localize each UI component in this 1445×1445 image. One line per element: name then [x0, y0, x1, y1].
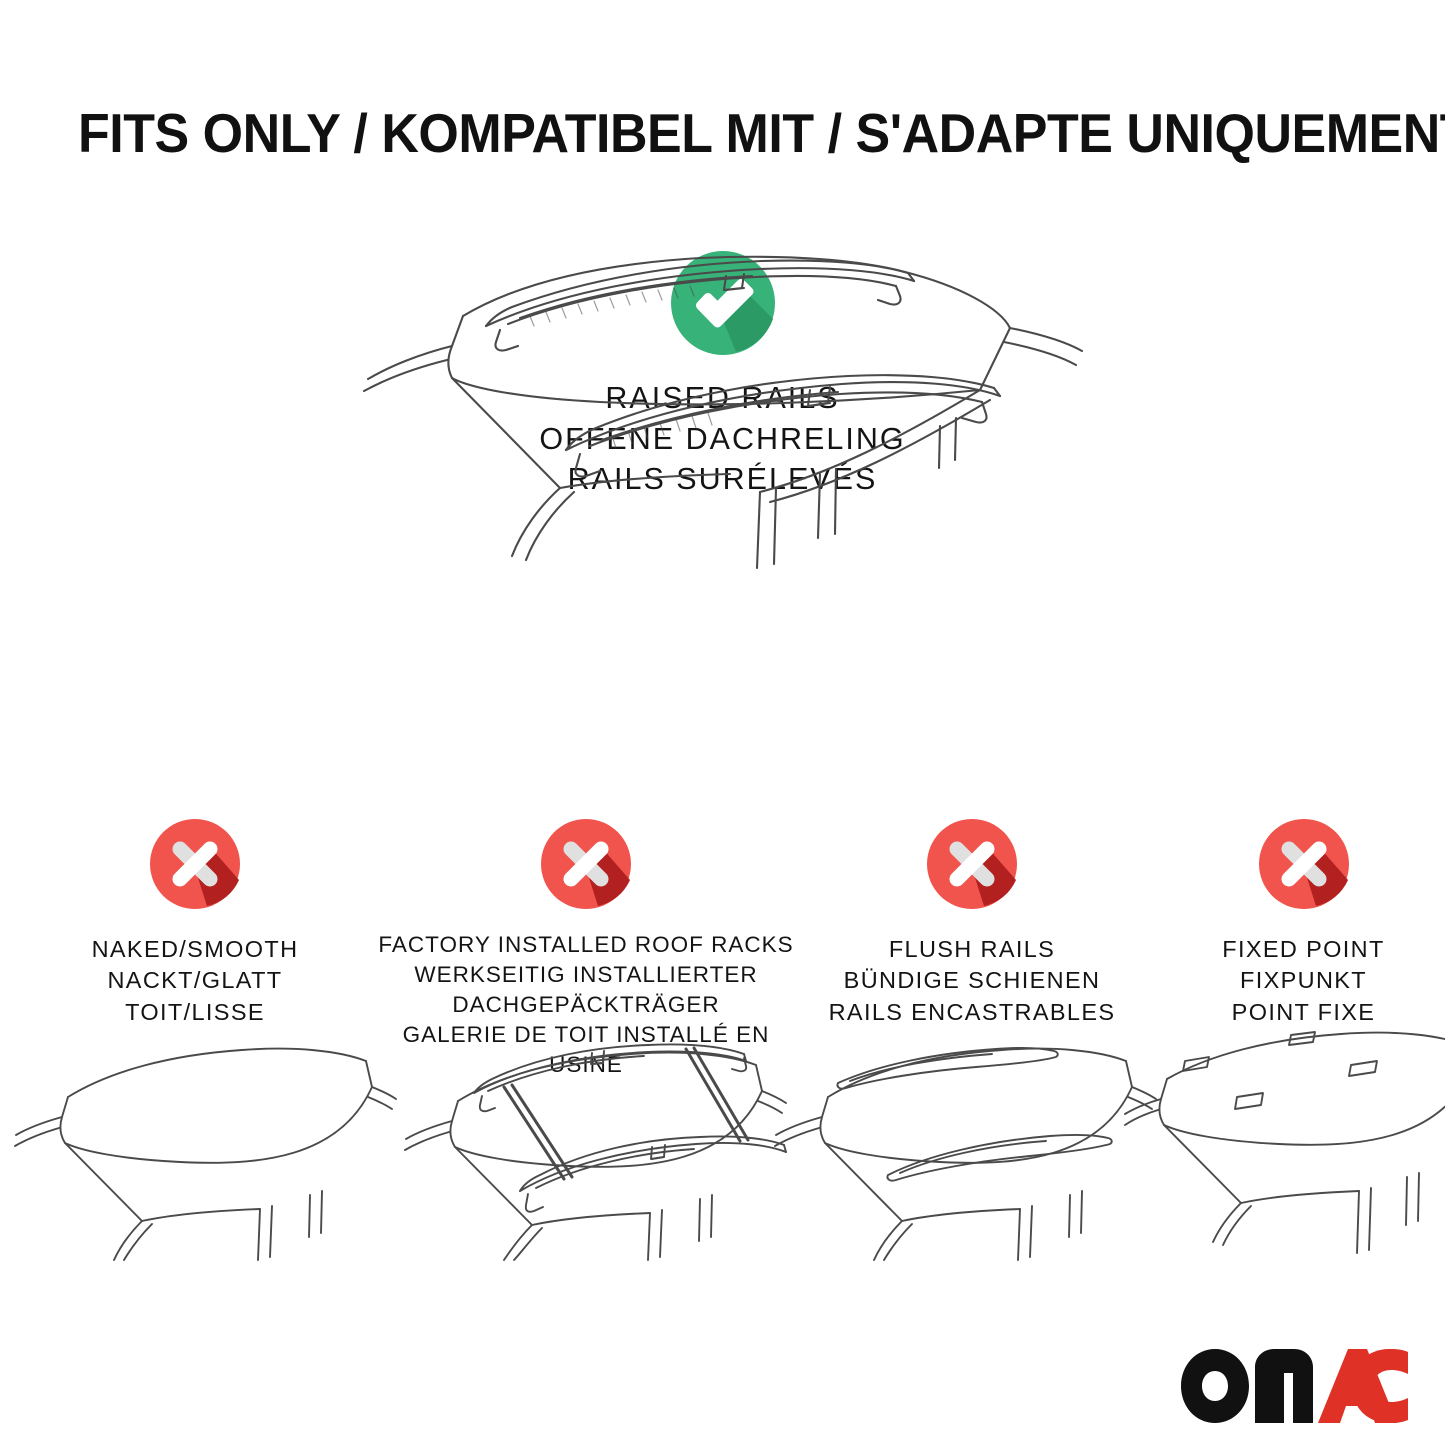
incompatible-column-naked-smooth: NAKED/SMOOTH NACKT/GLATT TOIT/LISSE: [0, 818, 390, 1028]
incompatible-artwork-row: [0, 1025, 1445, 1260]
x-circle-icon: [540, 818, 632, 910]
car-roof-fixed-point-illustration: [1125, 1025, 1445, 1265]
incompatible-column-fixed-point: FIXED POINT FIXPUNKT POINT FIXE: [1162, 818, 1445, 1028]
label-line-3: DACHGEPÄCKTRÄGER: [371, 990, 801, 1020]
label-line-3: RAILS ENCASTRABLES: [802, 997, 1142, 1028]
incompatible-label-fixed-point: FIXED POINT FIXPUNKT POINT FIXE: [1164, 934, 1444, 1028]
incompatible-label-naked-smooth: NAKED/SMOOTH NACKT/GLATT TOIT/LISSE: [30, 934, 360, 1028]
incompatible-column-flush-rails: FLUSH RAILS BÜNDIGE SCHIENEN RAILS ENCAS…: [782, 818, 1162, 1028]
label-line-2: WERKSEITIG INSTALLIERTER: [371, 960, 801, 990]
label-line-2: BÜNDIGE SCHIENEN: [802, 965, 1142, 996]
car-roof-naked-smooth-illustration: [10, 1025, 380, 1265]
x-circle-icon: [926, 818, 1018, 910]
incompatible-label-flush-rails: FLUSH RAILS BÜNDIGE SCHIENEN RAILS ENCAS…: [802, 934, 1142, 1028]
label-line-1: FLUSH RAILS: [802, 934, 1142, 965]
page-title: FITS ONLY / KOMPATIBEL MIT / S'ADAPTE UN…: [78, 104, 1307, 163]
car-roof-factory-installed-roof-racks-illustration: [396, 1025, 776, 1265]
logo-letter-m: [1255, 1349, 1313, 1423]
label-line-3: POINT FIXE: [1164, 997, 1444, 1028]
x-circle-icon: [149, 818, 241, 910]
car-roof-flush-rails-illustration: [770, 1025, 1140, 1265]
x-circle-icon: [1258, 818, 1350, 910]
compatibility-infographic: FITS ONLY / KOMPATIBEL MIT / S'ADAPTE UN…: [0, 0, 1445, 1445]
label-line-2: FIXPUNKT: [1164, 965, 1444, 996]
label-line-1: FACTORY INSTALLED ROOF RACKS: [371, 930, 801, 960]
car-roof-with-raised-rails-illustration: [0, 238, 1445, 528]
label-line-3: TOIT/LISSE: [30, 997, 360, 1028]
label-line-1: FIXED POINT: [1164, 934, 1444, 965]
omac-logo: [1181, 1347, 1409, 1425]
label-line-2: NACKT/GLATT: [30, 965, 360, 996]
label-line-1: NAKED/SMOOTH: [30, 934, 360, 965]
logo-letter-o: [1181, 1349, 1249, 1423]
